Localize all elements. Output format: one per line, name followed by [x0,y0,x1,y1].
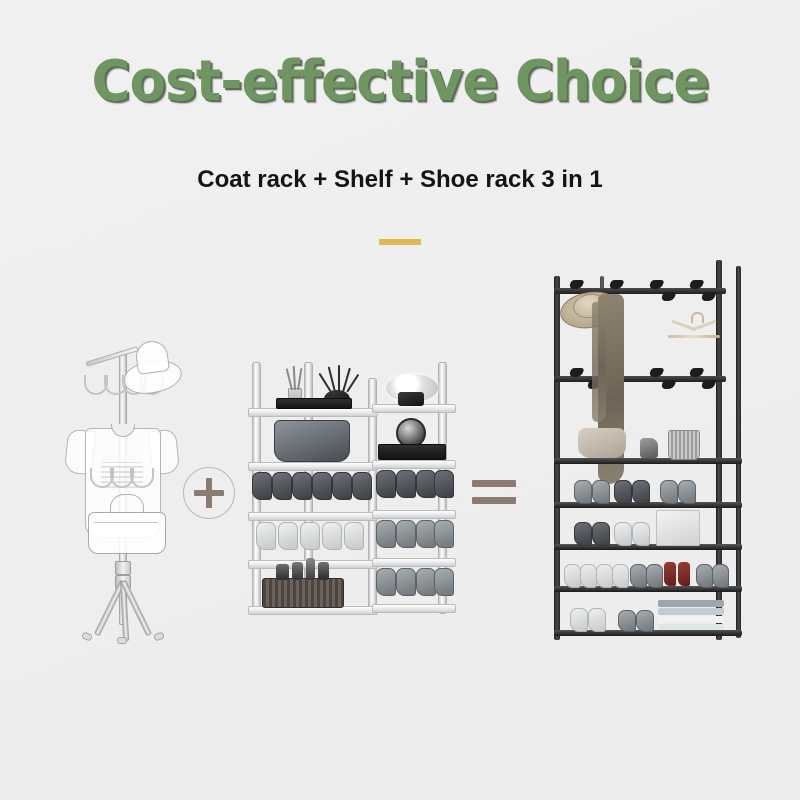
shelf-tier [248,462,378,471]
folded-towel [658,616,724,623]
plus-operator-icon [183,467,235,519]
shelf-tier [248,408,378,417]
coat-rack-lower-hooks [84,468,160,490]
shelf-tier [372,558,456,567]
coat-hook [701,380,717,389]
subtitle: Coat rack + Shelf + Shoe rack 3 in 1 [0,166,800,194]
shelf-tier [372,510,456,519]
coat-rack-foot [81,632,93,642]
hook-rail-bottom [554,376,726,382]
vase-icon [398,392,424,406]
product-infographic: Cost-effective Choice Coat rack + Shelf … [0,0,800,800]
shelf-tier [554,586,742,592]
folded-towel [658,624,724,630]
hall-tree-post [736,266,741,638]
folded-towel [658,608,724,615]
handbag-icon [578,428,626,458]
title-divider [379,239,421,245]
wooden-hanger-icon [668,318,720,340]
product-shelf-shoe-rack [246,352,454,618]
red-heel-icon [664,562,676,586]
folded-towel [658,600,724,607]
coat-hook [701,292,717,301]
shoe-box-icon [656,510,700,546]
page-title: Cost-effective Choice [20,52,780,112]
shelf-tier [554,458,742,464]
coat-hook [661,292,677,301]
coat-rack-joint [115,561,131,575]
woven-basket-icon [262,578,344,608]
shelf-tier [372,460,456,469]
shelf-tier [372,604,456,613]
coat-icon [592,302,606,422]
equals-operator-icon [472,478,518,508]
coat-rack-foot [153,632,165,642]
decor-figure-icon [640,438,658,458]
coat-rack-foot [117,637,127,644]
product-coat-rack [62,333,182,645]
coat-hook [661,380,677,389]
handbag-icon [88,496,164,552]
red-heel-icon [678,562,690,586]
book-stack-icon [378,444,446,460]
hat-icon [124,341,180,393]
book-stack-icon [276,398,352,409]
product-hall-tree [540,258,752,643]
tin-basket-icon [668,430,700,460]
handbag-icon [274,420,350,462]
shelf-tier [248,512,378,521]
